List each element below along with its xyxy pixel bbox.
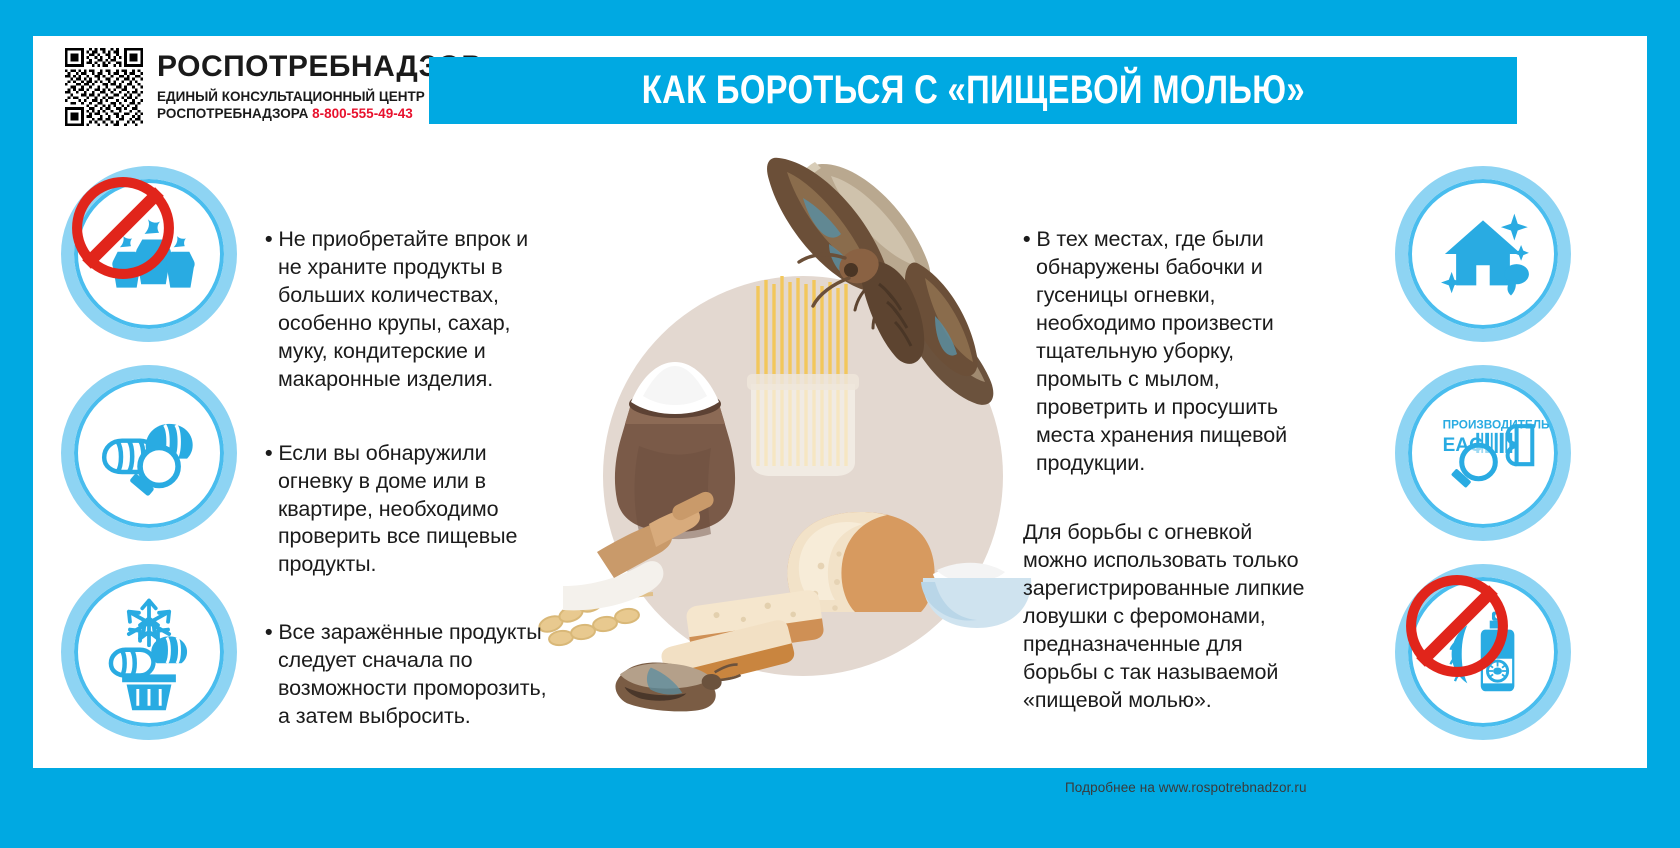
left-bullet-1: • Не приобретайте впрок и не храните про…	[265, 226, 555, 394]
left-text-column: • Не приобретайте впрок и не храните про…	[265, 226, 555, 765]
bullet-marker: •	[265, 620, 272, 644]
rospotrebnadzor-logo-block: РОСПОТРЕБНАДЗОР ЕДИНЫЙ КОНСУЛЬТАЦИОННЫЙ …	[65, 48, 482, 126]
left-bullet-2-text: Если вы обнаружили огневку в доме или в …	[278, 441, 517, 577]
left-bullet-1-text: Не приобретайте впрок и не храните проду…	[278, 227, 528, 391]
badge-inner	[93, 198, 205, 310]
product-label-magnifier-icon: ПРОИЗВОДИТЕЛЬ EAC	[1427, 397, 1539, 509]
org-subtitle-line2-text: РОСПОТРЕБНАДЗОРА	[157, 106, 308, 121]
badge-no-insecticide-spray[interactable]	[1395, 564, 1571, 740]
badge-inner	[1427, 596, 1539, 708]
poster-root: РОСПОТРЕБНАДЗОР ЕДИНЫЙ КОНСУЛЬТАЦИОННЫЙ …	[0, 0, 1680, 848]
food-products-with-moths-illustration	[503, 146, 1063, 726]
bullet-marker: •	[265, 441, 272, 465]
left-bullet-2: • Если вы обнаружили огневку в доме или …	[265, 440, 555, 580]
badge-inner	[1427, 198, 1539, 310]
hotline-phone[interactable]: 8-800-555-49-43	[312, 106, 413, 121]
right-text-column: • В тех местах, где были обнаружены бабо…	[1023, 226, 1313, 749]
bread-magnifier-icon	[93, 397, 205, 509]
no-food-sacks-icon	[93, 198, 205, 310]
badge-no-food-sacks[interactable]	[61, 166, 237, 342]
header: РОСПОТРЕБНАДЗОР ЕДИНЫЙ КОНСУЛЬТАЦИОННЫЙ …	[33, 36, 1647, 141]
clean-house-icon	[1427, 198, 1539, 310]
jar-glass	[751, 384, 855, 476]
bullet-marker: •	[1023, 227, 1030, 251]
left-bullet-3: • Все заражённые продукты следует сначал…	[265, 619, 555, 731]
freeze-and-discard-icon	[93, 596, 205, 708]
badge-check-manufacturer-label[interactable]: ПРОИЗВОДИТЕЛЬ EAC	[1395, 365, 1571, 541]
jar-rim	[747, 374, 859, 390]
right-bullet-1: • В тех местах, где были обнаружены бабо…	[1023, 226, 1313, 477]
left-bullet-3-text: Все заражённые продукты следует сначала …	[278, 620, 547, 728]
no-insecticide-spray-icon	[1427, 596, 1539, 708]
badge-inner	[93, 397, 205, 509]
poster-card: РОСПОТРЕБНАДЗОР ЕДИНЫЙ КОНСУЛЬТАЦИОННЫЙ …	[33, 36, 1647, 768]
badge-inspect-food[interactable]	[61, 365, 237, 541]
badge-freeze-and-discard[interactable]	[61, 564, 237, 740]
right-bullet-1-text: В тех местах, где были обнаружены бабочк…	[1036, 227, 1287, 475]
page-title: КАК БОРОТЬСЯ С «ПИЩЕВОЙ МОЛЬЮ»	[641, 68, 1304, 113]
title-banner: КАК БОРОТЬСЯ С «ПИЩЕВОЙ МОЛЬЮ»	[429, 57, 1517, 124]
right-paragraph-2: Для борьбы с огневкой можно использовать…	[1023, 519, 1313, 715]
right-paragraph-2-text: Для борьбы с огневкой можно использовать…	[1023, 520, 1304, 712]
footer-note[interactable]: Подробнее на www.rospotrebnadzor.ru	[1065, 780, 1307, 795]
badge-inner	[93, 596, 205, 708]
badge-clean-house[interactable]	[1395, 166, 1571, 342]
badge-inner: ПРОИЗВОДИТЕЛЬ EAC	[1427, 397, 1539, 509]
qr-code-icon	[65, 48, 143, 126]
bullet-marker: •	[265, 227, 272, 251]
